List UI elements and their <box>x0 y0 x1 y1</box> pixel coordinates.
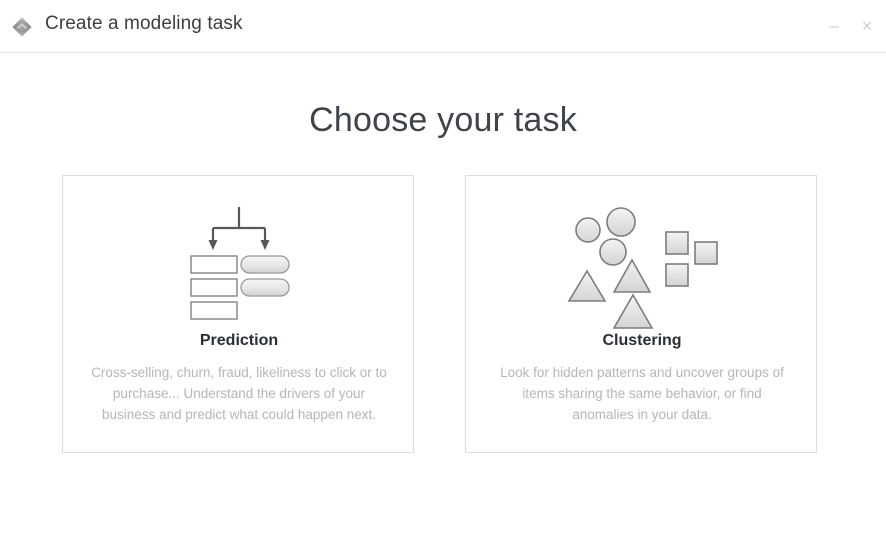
window-title: Create a modeling task <box>45 13 243 35</box>
diamond-logo-icon <box>11 16 33 38</box>
close-button[interactable]: × <box>855 14 879 38</box>
card-description-clustering: Look for hidden patterns and uncover gro… <box>492 362 792 425</box>
minimize-button[interactable]: – <box>822 14 846 38</box>
card-description-prediction: Cross-selling, churn, fraud, likeliness … <box>89 362 389 425</box>
task-card-clustering[interactable]: Clustering Look for hidden patterns and … <box>465 175 817 453</box>
card-title-clustering: Clustering <box>466 332 818 350</box>
window-titlebar: Create a modeling task – × <box>0 0 886 53</box>
card-title-prediction: Prediction <box>63 332 415 350</box>
task-card-prediction[interactable]: Prediction Cross-selling, churn, fraud, … <box>62 175 414 453</box>
shape-clusters-icon <box>466 200 818 330</box>
page-title: Choose your task <box>0 101 886 140</box>
decision-tree-icon <box>63 200 415 330</box>
